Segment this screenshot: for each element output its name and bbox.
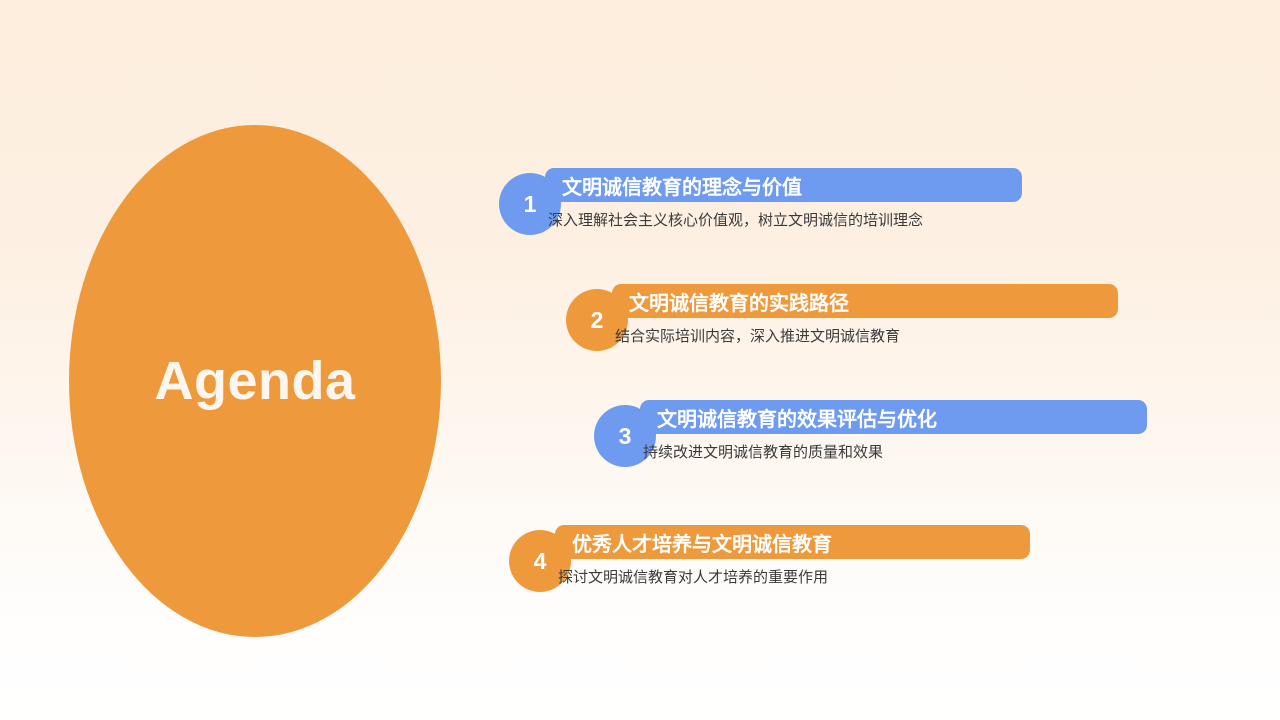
agenda-item-description: 深入理解社会主义核心价值观，树立文明诚信的培训理念: [545, 209, 1022, 230]
agenda-list: 1 文明诚信教育的理念与价值 深入理解社会主义核心价值观，树立文明诚信的培训理念…: [0, 0, 1280, 720]
agenda-item-description: 探讨文明诚信教育对人才培养的重要作用: [555, 566, 1030, 587]
agenda-item-body: 文明诚信教育的效果评估与优化 持续改进文明诚信教育的质量和效果: [640, 400, 1147, 462]
agenda-item-body: 文明诚信教育的理念与价值 深入理解社会主义核心价值观，树立文明诚信的培训理念: [545, 168, 1022, 230]
agenda-item-title: 文明诚信教育的理念与价值: [562, 171, 802, 200]
agenda-title-bar[interactable]: 文明诚信教育的理念与价值: [545, 168, 1022, 202]
agenda-item-description: 结合实际培训内容，深入推进文明诚信教育: [612, 325, 1118, 346]
agenda-number-label: 4: [534, 548, 547, 575]
agenda-title-bar[interactable]: 文明诚信教育的效果评估与优化: [640, 400, 1147, 434]
agenda-title-bar[interactable]: 文明诚信教育的实践路径: [612, 284, 1118, 318]
agenda-item-title: 文明诚信教育的效果评估与优化: [657, 403, 937, 432]
agenda-number-label: 1: [524, 191, 537, 218]
agenda-item-body: 文明诚信教育的实践路径 结合实际培训内容，深入推进文明诚信教育: [612, 284, 1118, 346]
agenda-title-bar[interactable]: 优秀人才培养与文明诚信教育: [555, 525, 1030, 559]
agenda-number-label: 2: [591, 307, 604, 334]
agenda-item-title: 优秀人才培养与文明诚信教育: [572, 528, 832, 557]
agenda-item-description: 持续改进文明诚信教育的质量和效果: [640, 441, 1147, 462]
agenda-number-label: 3: [619, 423, 632, 450]
agenda-item-body: 优秀人才培养与文明诚信教育 探讨文明诚信教育对人才培养的重要作用: [555, 525, 1030, 587]
agenda-slide: Agenda 1 文明诚信教育的理念与价值 深入理解社会主义核心价值观，树立文明…: [0, 0, 1280, 720]
agenda-item-title: 文明诚信教育的实践路径: [629, 287, 849, 316]
